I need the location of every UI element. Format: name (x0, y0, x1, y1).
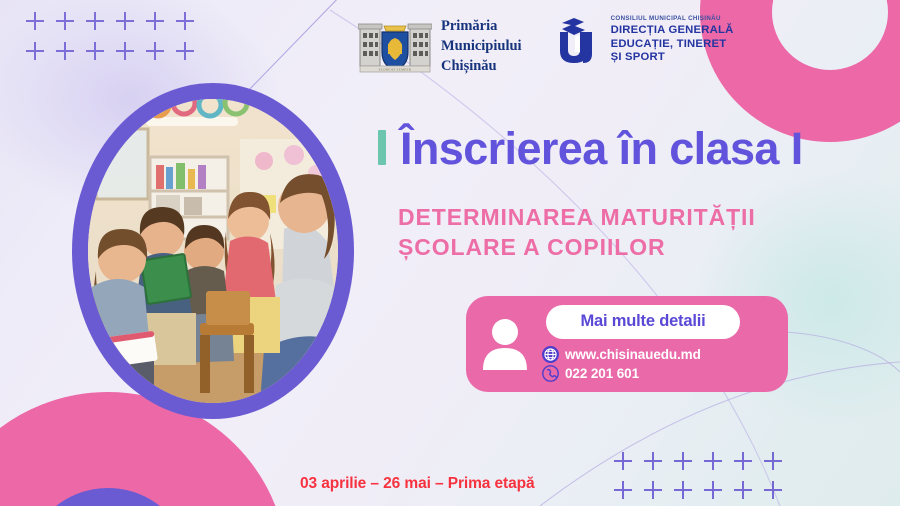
plus-icon (610, 477, 636, 503)
globe-icon (542, 346, 559, 363)
stage-one-date: 03 aprilie – 26 mai – Prima etapă (300, 471, 543, 496)
plus-icon (730, 448, 756, 474)
plus-icon (22, 8, 48, 34)
primaria-logo-text: Primăria Municipiului Chișinău (441, 16, 522, 76)
website-text: www.chisinauedu.md (565, 347, 701, 362)
plus-icon (172, 38, 198, 64)
dgets-logo: CONSILIUL MUNICIPAL CHIȘINĂU DIRECȚIA GE… (556, 16, 734, 64)
phone-text: 022 201 601 (565, 366, 639, 381)
dgets-logo-text: CONSILIUL MUNICIPAL CHIȘINĂU DIRECȚIA GE… (611, 16, 734, 64)
classroom-photo (88, 99, 338, 403)
plus-icon (670, 477, 696, 503)
photo-oval-frame (72, 83, 354, 419)
plus-grid-bottom-right (610, 448, 790, 506)
plus-grid-top-left (22, 8, 202, 68)
plus-icon (112, 8, 138, 34)
plus-icon (82, 38, 108, 64)
logo-bar: FLOREAT SEMPER Primăria Municipiului Chi… (358, 16, 733, 76)
plus-icon (22, 38, 48, 64)
plus-icon (172, 8, 198, 34)
plus-icon (52, 38, 78, 64)
plus-icon (700, 448, 726, 474)
contact-card: Mai multe detalii www.chisinauedu.md 02 (466, 296, 788, 392)
page-title: Înscrierea în clasa I (400, 126, 803, 171)
plus-icon (760, 448, 786, 474)
plus-icon (82, 8, 108, 34)
plus-icon (700, 477, 726, 503)
primaria-logo: FLOREAT SEMPER Primăria Municipiului Chi… (358, 16, 522, 76)
poster-canvas: FLOREAT SEMPER Primăria Municipiului Chi… (0, 0, 900, 506)
plus-icon (670, 448, 696, 474)
plus-icon (640, 477, 666, 503)
plus-icon (142, 8, 168, 34)
dgets-council-line: CONSILIUL MUNICIPAL CHIȘINĂU (611, 16, 734, 23)
contact-details: Mai multe detalii www.chisinauedu.md 02 (538, 305, 772, 384)
classroom-photo-illustration (88, 99, 338, 403)
more-details-button[interactable]: Mai multe detalii (546, 305, 740, 339)
person-icon (482, 318, 528, 370)
headline-block: Înscrierea în clasa I (378, 126, 883, 171)
plus-icon (730, 477, 756, 503)
plus-icon (112, 38, 138, 64)
dgets-main-line: DIRECȚIA GENERALĂ EDUCAȚIE, TINERET ȘI S… (611, 24, 734, 64)
plus-icon (142, 38, 168, 64)
phone-line[interactable]: 022 201 601 (542, 365, 772, 382)
enrollment-dates: 03 aprilie – 26 mai – Prima etapă 02 iun… (300, 446, 543, 506)
svg-text:FLOREAT SEMPER: FLOREAT SEMPER (379, 68, 412, 72)
phone-icon (542, 365, 559, 382)
plus-icon (760, 477, 786, 503)
chisinau-coat-of-arms-icon: FLOREAT SEMPER (358, 18, 432, 74)
page-subtitle: DETERMINAREA MATURITĂȚII ȘCOLARE A COPII… (398, 202, 898, 263)
plus-icon (52, 8, 78, 34)
dgets-monogram-icon (556, 16, 602, 64)
teal-accent-bar (378, 130, 386, 165)
plus-icon (610, 448, 636, 474)
plus-icon (640, 448, 666, 474)
website-line[interactable]: www.chisinauedu.md (542, 346, 772, 363)
